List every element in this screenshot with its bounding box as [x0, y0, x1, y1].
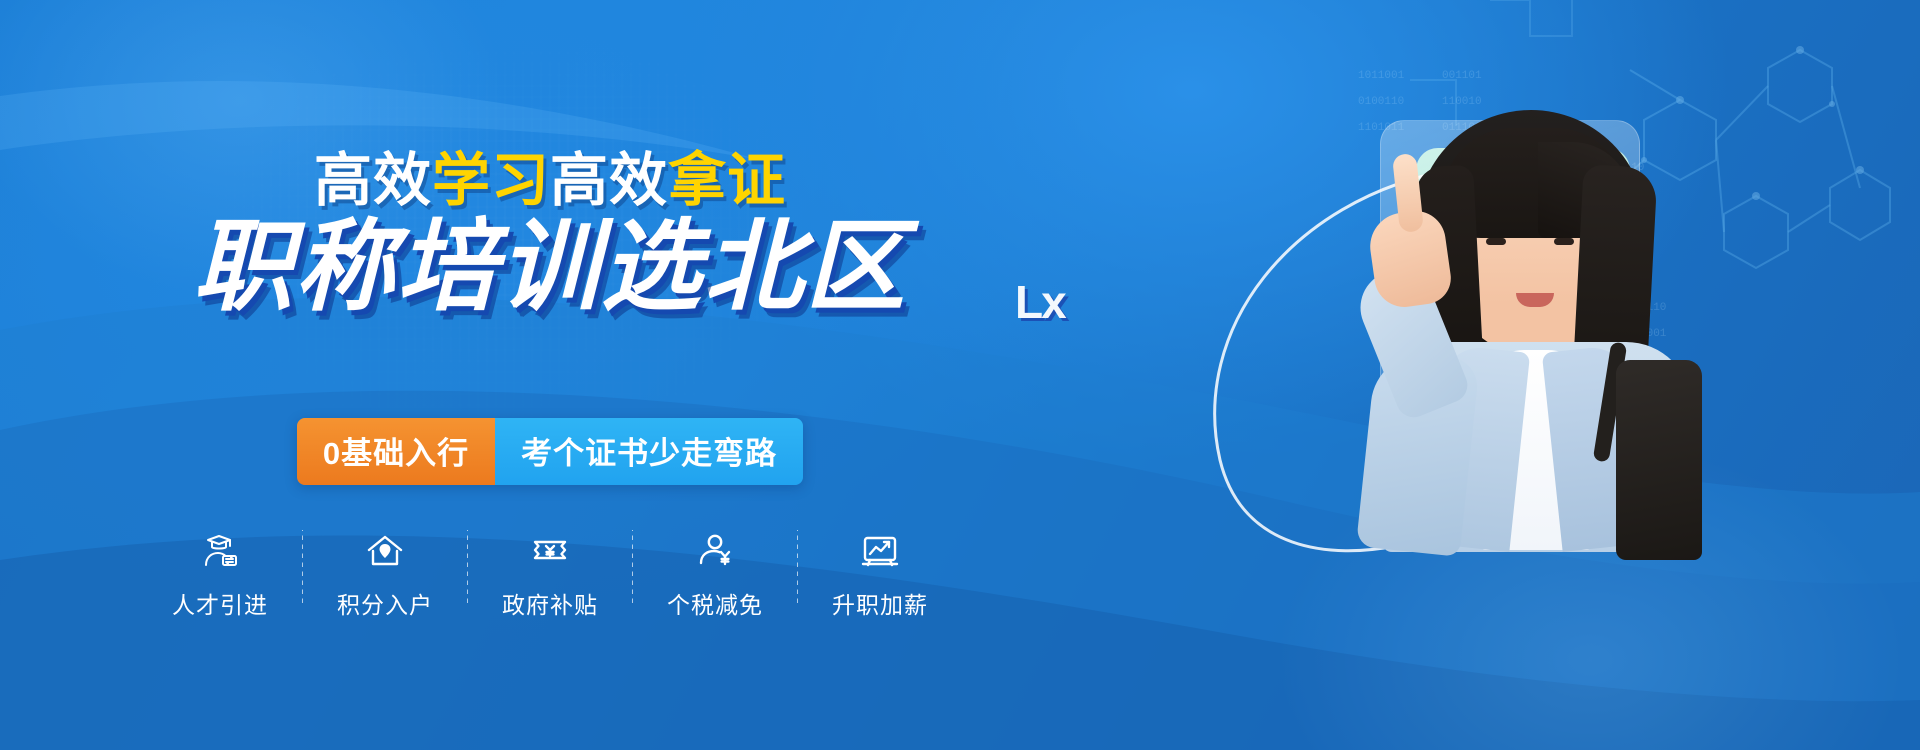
feature-label-subsidy: 政府补贴 [502, 586, 598, 620]
badge-right-label[interactable]: 考个证书少走弯路 [495, 418, 803, 485]
subheadline-part-2: 学习 [432, 148, 550, 213]
headline-before: 职称培训 [193, 211, 601, 323]
feature-label-hukou: 积分入户 [337, 586, 433, 620]
subheadline-part-4: 拿证 [668, 148, 786, 213]
feature-item-talent[interactable]: 人才引进 [153, 528, 287, 620]
promo-banner: 1011001001101 0100110110010 110101101110… [0, 0, 1920, 750]
feature-label-talent: 人才引进 [172, 586, 268, 620]
feature-item-hukou[interactable]: 积分入户 [318, 528, 452, 620]
chart-growth-icon [858, 528, 902, 574]
graduate-person-icon [198, 528, 242, 574]
subheadline-part-3: 高效 [550, 148, 668, 213]
badge-left-label[interactable]: 0基础入行 [297, 418, 495, 485]
feature-item-subsidy[interactable]: 政府补贴 [483, 528, 617, 620]
feature-divider-2 [467, 530, 468, 604]
subheadline-part-1: 高效 [314, 148, 432, 213]
tagline-badge-row: 0基础入行 考个证书少走弯路 [0, 418, 1100, 485]
headline-after: 北区 [703, 211, 907, 323]
feature-label-tax: 个税减免 [667, 586, 763, 620]
feature-divider-3 [632, 530, 633, 604]
feature-divider-1 [302, 530, 303, 604]
feature-item-tax[interactable]: 个税减免 [648, 528, 782, 620]
tagline-badge[interactable]: 0基础入行 考个证书少走弯路 [297, 418, 803, 485]
home-pin-icon [363, 528, 407, 574]
headline-accent: 选 [601, 215, 703, 320]
banner-content: 高效学习高效拿证 职称培训选北区 0基础入行 考个证书少走弯路 [0, 0, 1100, 750]
coupon-yuan-icon [528, 528, 572, 574]
feature-label-promotion: 升职加薪 [832, 586, 928, 620]
banner-subheadline: 高效学习高效拿证 [0, 152, 1100, 210]
feature-item-promotion[interactable]: 升职加薪 [813, 528, 947, 620]
banner-headline: 职称培训选北区 [0, 215, 1100, 320]
feature-divider-4 [797, 530, 798, 604]
person-yuan-icon [693, 528, 737, 574]
instructor-photo [1330, 92, 1760, 532]
feature-list: 人才引进 积分入户 [0, 528, 1100, 620]
hero-visual [1080, 0, 1920, 750]
